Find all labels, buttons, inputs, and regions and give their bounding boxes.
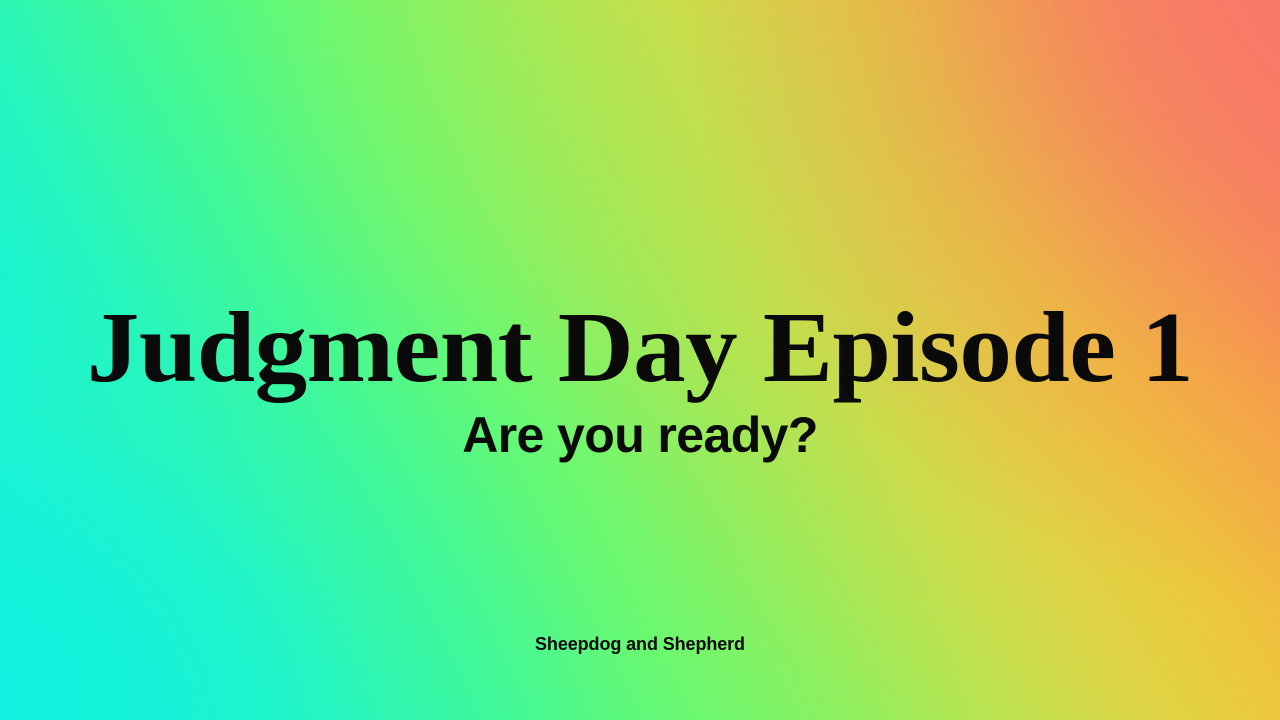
title-slide: Judgment Day Episode 1 Are you ready? Sh… xyxy=(0,0,1280,720)
page-title: Judgment Day Episode 1 xyxy=(0,296,1280,399)
footer-attribution: Sheepdog and Shepherd xyxy=(0,634,1280,656)
slide-content: Judgment Day Episode 1 Are you ready? Sh… xyxy=(0,0,1280,720)
page-subtitle: Are you ready? xyxy=(0,408,1280,463)
